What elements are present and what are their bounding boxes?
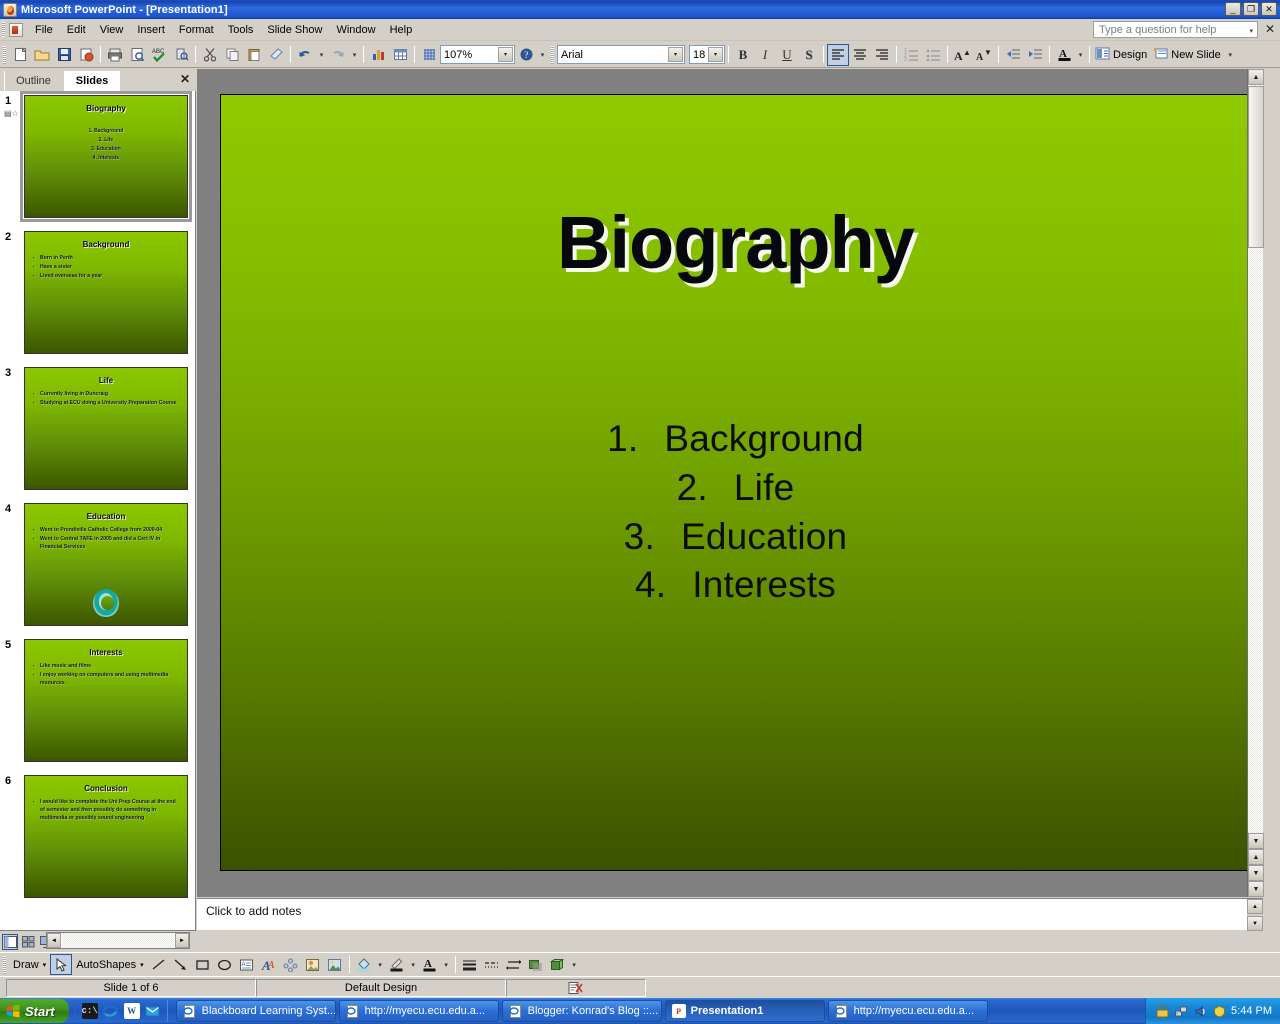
toolbar-separator xyxy=(1049,46,1050,63)
slide-counter: Slide 1 of 6 xyxy=(6,979,256,997)
slide-thumbnail-bullet: I enjoy working on computers and using m… xyxy=(33,672,179,688)
start-button[interactable]: Start xyxy=(0,999,69,1023)
decrease-font-size-icon[interactable]: A▼ xyxy=(973,44,995,66)
slide-list-item: 1.Background xyxy=(221,415,1250,464)
dash-style-icon[interactable] xyxy=(481,954,503,975)
notes-pane[interactable]: Click to add notes ▲ ▼ xyxy=(197,898,1263,930)
taskbar-button-label: Blackboard Learning Syst... xyxy=(202,1005,336,1017)
slide-thumbnail-bullet: Went to Central TAFE in 2005 and did a C… xyxy=(33,536,179,552)
taskbar-button[interactable]: PPresentation1 xyxy=(665,1000,825,1022)
ie-page-icon xyxy=(346,1004,360,1018)
bold-button[interactable]: B xyxy=(732,44,754,66)
slide-thumbnail[interactable]: LifeCurrently living in DuncraigStudying… xyxy=(24,367,188,490)
slide-list-item-text: Interests xyxy=(692,564,836,605)
drawing-toolbar-overflow-icon[interactable]: ▾ xyxy=(569,954,580,976)
outlook-express-icon[interactable] xyxy=(145,1003,161,1019)
slide-thumbnail[interactable]: ConclusionI would like to complete the U… xyxy=(24,775,188,898)
toolbar-separator xyxy=(823,46,824,63)
font-color-drawing-icon[interactable]: A xyxy=(419,954,441,975)
slide-list-item-number: 1. xyxy=(607,418,638,459)
toolbar-grip-formatting[interactable] xyxy=(551,46,554,64)
select-objects-icon[interactable] xyxy=(50,954,72,975)
slide-thumbnail-bullet: Went to Prendiville Catholic College fro… xyxy=(33,527,179,535)
font-color-dropdown-icon[interactable]: ▾ xyxy=(1075,44,1086,66)
status-spacer xyxy=(646,979,1280,997)
open-icon[interactable] xyxy=(31,44,53,66)
chevron-down-icon: ▾ xyxy=(43,961,47,969)
slide-editing-workspace[interactable]: Biography 1.Background2.Life3.Education4… xyxy=(197,69,1263,897)
align-right-icon[interactable] xyxy=(871,44,893,66)
menu-tools[interactable]: Tools xyxy=(221,22,261,38)
restore-button[interactable]: ❐ xyxy=(1243,2,1259,16)
slide-thumbnail-item[interactable]: 1▤☆Biography1. Background2. Life3. Educa… xyxy=(0,91,196,227)
font-size-value: 18 xyxy=(693,49,705,61)
slide-thumbnail-item[interactable]: 5InterestsLike music and filmsI enjoy wo… xyxy=(0,635,196,771)
slide-thumbnail-item[interactable]: 3LifeCurrently living in DuncraigStudyin… xyxy=(0,363,196,499)
slide-body-list[interactable]: 1.Background2.Life3.Education4.Interests xyxy=(221,415,1250,610)
bulleted-list-icon[interactable] xyxy=(922,44,944,66)
shield-icon[interactable] xyxy=(1212,1004,1226,1018)
font-size-dropdown-icon[interactable]: ▾ xyxy=(708,47,723,62)
slide-thumbnail-number: 1 xyxy=(5,95,11,107)
hscroll-track[interactable] xyxy=(62,933,174,948)
window-title: Microsoft PowerPoint - [Presentation1] xyxy=(21,4,228,16)
design-icon xyxy=(1095,47,1110,63)
close-button[interactable]: ✕ xyxy=(1261,2,1277,16)
slide-thumbnail-number: 3 xyxy=(5,367,11,379)
slide-thumbnail-title: Background xyxy=(25,240,187,249)
insert-table-icon[interactable] xyxy=(389,44,411,66)
chevron-down-icon: ▾ xyxy=(140,961,144,969)
toolbar-overflow-standard-icon[interactable]: ▾ xyxy=(537,44,548,66)
decrease-indent-icon[interactable] xyxy=(1002,44,1024,66)
svg-text:▼: ▼ xyxy=(984,48,992,57)
menu-bar: File Edit View Insert Format Tools Slide… xyxy=(0,19,1280,41)
help-icon[interactable]: ? xyxy=(515,44,537,66)
menu-format[interactable]: Format xyxy=(172,22,221,38)
rectangle-icon[interactable] xyxy=(192,954,214,975)
toolbar-separator xyxy=(947,46,948,63)
menu-view[interactable]: View xyxy=(93,22,131,38)
line-style-icon[interactable] xyxy=(459,954,481,975)
security-icon[interactable] xyxy=(1155,1004,1169,1018)
taskbar-button-label: Blogger: Konrad's Blog ::... xyxy=(528,1005,659,1017)
menu-file[interactable]: File xyxy=(28,22,60,38)
slide-list-item-text: Background xyxy=(664,418,863,459)
svg-text:A: A xyxy=(267,960,275,971)
slide-thumbnail-number: 5 xyxy=(5,639,11,651)
close-pane-icon[interactable]: ✕ xyxy=(180,72,190,86)
toolbar-overflow-formatting-icon[interactable]: ▾ xyxy=(1225,44,1236,66)
slide-thumbnail-title: Biography xyxy=(25,104,187,113)
slide-thumbnail-body: Currently living in DuncraigStudying at … xyxy=(33,391,179,408)
draw-label: Draw xyxy=(13,959,39,971)
save-icon[interactable] xyxy=(53,44,75,66)
arrow-icon[interactable] xyxy=(170,954,192,975)
fill-color-dropdown-icon[interactable]: ▾ xyxy=(375,954,386,976)
slide-thumbnail-bullet: Currently living in Duncraig xyxy=(33,391,179,399)
slide-thumbnail[interactable]: BackgroundBorn in PerthHave a sisterLive… xyxy=(24,231,188,354)
fill-color-icon[interactable] xyxy=(353,954,375,975)
windows-taskbar: Start c:\ W Blackboard Learning Syst...h… xyxy=(0,998,1280,1024)
svg-text:▲: ▲ xyxy=(963,48,970,57)
paste-icon[interactable] xyxy=(243,44,265,66)
slide-thumbnail-title: Interests xyxy=(25,648,187,657)
slide-thumbnail-body: Born in PerthHave a sisterLived overseas… xyxy=(33,255,179,280)
oval-icon[interactable] xyxy=(214,954,236,975)
menu-window[interactable]: Window xyxy=(329,22,382,38)
design-label: Design xyxy=(1113,49,1147,61)
toolbar-separator xyxy=(896,46,897,63)
next-slide-icon[interactable]: ▼ xyxy=(1248,865,1264,881)
font-color-icon[interactable]: A xyxy=(1053,44,1075,66)
font-color-drawing-dropdown-icon[interactable]: ▾ xyxy=(441,954,452,976)
line-icon[interactable] xyxy=(148,954,170,975)
tab-outline[interactable]: Outline xyxy=(4,71,62,91)
network-icon[interactable] xyxy=(1174,1004,1188,1018)
cut-icon[interactable] xyxy=(199,44,221,66)
toolbar-separator xyxy=(998,46,999,63)
slide-thumbnail-item[interactable]: 4EducationWent to Prendiville Catholic C… xyxy=(0,499,196,635)
draw-menu-button[interactable]: Draw ▾ xyxy=(9,959,50,971)
slide-list-item-number: 4. xyxy=(635,564,666,605)
menu-help[interactable]: Help xyxy=(383,22,420,38)
window-title-bar: Microsoft PowerPoint - [Presentation1] _… xyxy=(0,0,1280,19)
quick-launch-bar: c:\ W xyxy=(75,1000,168,1022)
slide-thumbnail-title: Education xyxy=(25,512,187,521)
windows-flag-icon xyxy=(6,1004,20,1018)
toolbar-separator xyxy=(349,956,350,973)
slide-thumbnail[interactable]: InterestsLike music and filmsI enjoy wor… xyxy=(24,639,188,762)
scroll-end-icon[interactable]: ▼ xyxy=(1248,881,1264,897)
slide-thumbnail-bullet: Studying at ECU doing a University Prepa… xyxy=(33,400,179,408)
print-icon[interactable] xyxy=(104,44,126,66)
ie-page-icon xyxy=(509,1004,523,1018)
slide-thumbnail-title: Conclusion xyxy=(25,784,187,793)
taskbar-buttons: Blackboard Learning Syst...http://myecu.… xyxy=(176,1000,988,1022)
toolbar-separator xyxy=(195,46,196,63)
menu-grip[interactable] xyxy=(2,22,5,37)
slide-thumbnail-item[interactable]: 2BackgroundBorn in PerthHave a sisterLiv… xyxy=(0,227,196,363)
wordart-icon[interactable]: AA xyxy=(258,954,280,975)
svg-text:A: A xyxy=(424,958,432,970)
toolbar-separator xyxy=(1089,46,1090,63)
slide-thumbnail-body: Went to Prendiville Catholic College fro… xyxy=(33,527,179,551)
zoom-combo[interactable]: 107% ▾ xyxy=(440,45,515,64)
thumbnail-pane-hscrollbar[interactable]: ◄ ► xyxy=(46,932,190,949)
line-color-icon[interactable] xyxy=(386,954,408,975)
slide-thumbnail-number: 2 xyxy=(5,231,11,243)
tab-slides[interactable]: Slides xyxy=(64,71,120,91)
command-prompt-icon[interactable]: c:\ xyxy=(82,1003,98,1019)
font-name-combo[interactable]: Arial ▾ xyxy=(557,45,685,64)
zoom-value: 107% xyxy=(444,49,472,61)
undo-icon[interactable] xyxy=(294,44,316,66)
standard-toolbar: ABC ▾ ▾ xyxy=(0,42,1280,68)
slide-thumbnail-bullet: I would like to complete the Uni Prep Co… xyxy=(33,799,179,822)
slide-thumbnail-logo-image xyxy=(93,589,119,617)
line-color-dropdown-icon[interactable]: ▾ xyxy=(408,954,419,976)
slide-thumbnail-list-item: 4. Interests xyxy=(25,154,187,163)
help-placeholder: Type a question for help xyxy=(1099,24,1216,36)
slide-thumbnail-item[interactable]: 6ConclusionI would like to complete the … xyxy=(0,771,196,907)
svg-text:A: A xyxy=(954,49,963,62)
help-question-box[interactable]: Type a question for help ▾ xyxy=(1093,21,1258,38)
vscroll-thumb[interactable] xyxy=(1248,86,1264,248)
print-preview-icon[interactable] xyxy=(126,44,148,66)
notes-scrollbar[interactable]: ▲ ▼ xyxy=(1247,899,1263,931)
scroll-right-icon[interactable]: ► xyxy=(175,933,189,948)
document-icon xyxy=(9,23,23,37)
slide-animation-icon[interactable]: ▤☆ xyxy=(4,109,19,118)
toolbar-separator xyxy=(290,46,291,63)
drawing-toolbar: Draw ▾ AutoShapes ▾ A AA xyxy=(0,952,1280,976)
left-pane-tabs: Outline Slides ✕ xyxy=(0,69,196,92)
numbered-list-icon[interactable]: 123 xyxy=(900,44,922,66)
toolbar-separator xyxy=(100,46,101,63)
taskbar-button-label: Presentation1 xyxy=(691,1005,764,1017)
slide-thumbnail-list-item: 3. Education xyxy=(25,145,187,154)
notes-placeholder: Click to add notes xyxy=(206,904,301,918)
powerpoint-icon: P xyxy=(672,1004,686,1018)
text-box-icon[interactable]: A xyxy=(236,954,258,975)
notes-scroll-up-icon[interactable]: ▲ xyxy=(1247,899,1263,914)
slide-thumbnail-bullet: Lived overseas for a year xyxy=(33,273,179,281)
3d-style-icon[interactable] xyxy=(547,954,569,975)
font-name-value: Arial xyxy=(561,49,583,61)
toolbar-separator xyxy=(414,46,415,63)
new-icon[interactable] xyxy=(9,44,31,66)
new-slide-icon xyxy=(1153,47,1168,63)
previous-slide-icon[interactable]: ▲ xyxy=(1248,849,1264,865)
clip-art-icon[interactable] xyxy=(302,954,324,975)
close-document-icon[interactable]: ✕ xyxy=(1265,22,1275,36)
underline-button[interactable]: U xyxy=(776,44,798,66)
insert-chart-icon[interactable] xyxy=(367,44,389,66)
spelling-icon[interactable]: ABC xyxy=(148,44,170,66)
system-tray: 5:44 PM xyxy=(1145,998,1280,1024)
taskbar-button-label: http://myecu.ecu.edu.a... xyxy=(365,1005,485,1017)
spellcheck-status-icon[interactable] xyxy=(506,979,646,997)
scroll-up-icon[interactable]: ▲ xyxy=(1248,69,1264,85)
taskbar-button[interactable]: Blackboard Learning Syst... xyxy=(176,1000,336,1022)
normal-view-icon[interactable] xyxy=(2,934,18,950)
slide-canvas[interactable]: Biography 1.Background2.Life3.Education4… xyxy=(220,94,1251,871)
align-left-icon[interactable] xyxy=(827,44,849,66)
research-icon[interactable] xyxy=(170,44,192,66)
slide-thumbnail[interactable]: EducationWent to Prendiville Catholic Co… xyxy=(24,503,188,626)
svg-text:A: A xyxy=(242,962,246,968)
workspace-vscrollbar[interactable]: ▲ ▼ ▲ ▼ ▼ xyxy=(1247,69,1263,897)
show-grid-icon[interactable] xyxy=(418,44,440,66)
ie-page-icon xyxy=(183,1004,197,1018)
toolbar-grip-standard[interactable] xyxy=(3,46,6,64)
zoom-dropdown-icon[interactable]: ▾ xyxy=(498,47,513,62)
email-icon[interactable] xyxy=(75,44,97,66)
slide-thumbnail-list-item: 1. Background xyxy=(25,127,187,136)
minimize-button[interactable]: _ xyxy=(1225,2,1241,16)
increase-font-size-icon[interactable]: A▲ xyxy=(951,44,973,66)
menu-slide-show[interactable]: Slide Show xyxy=(260,22,329,38)
align-center-icon[interactable] xyxy=(849,44,871,66)
ie-page-icon xyxy=(835,1004,849,1018)
undo-dropdown-icon[interactable]: ▾ xyxy=(316,44,327,66)
slide-thumbnail-title: Life xyxy=(25,376,187,385)
svg-text:A: A xyxy=(976,52,984,62)
scroll-down-icon[interactable]: ▼ xyxy=(1248,833,1264,849)
redo-dropdown-icon[interactable]: ▾ xyxy=(349,44,360,66)
slide-thumbnail-list-item: 2. Life xyxy=(25,136,187,145)
start-label: Start xyxy=(25,1004,55,1019)
toolbar-separator xyxy=(455,956,456,973)
arrow-style-icon[interactable] xyxy=(503,954,525,975)
copy-icon[interactable] xyxy=(221,44,243,66)
format-painter-icon[interactable] xyxy=(265,44,287,66)
taskbar-button[interactable]: http://myecu.ecu.edu.a... xyxy=(339,1000,499,1022)
slide-list-item-number: 3. xyxy=(624,516,655,557)
text-shadow-button[interactable]: S xyxy=(798,44,820,66)
design-button[interactable]: Design xyxy=(1093,47,1151,63)
internet-explorer-icon[interactable] xyxy=(103,1003,119,1019)
clock[interactable]: 5:44 PM xyxy=(1231,1005,1272,1017)
word-icon[interactable]: W xyxy=(124,1003,140,1019)
taskbar-button[interactable]: http://myecu.ecu.edu.a... xyxy=(828,1000,988,1022)
diagram-icon[interactable] xyxy=(280,954,302,975)
slide-list-item-text: Education xyxy=(681,516,847,557)
increase-indent-icon[interactable] xyxy=(1024,44,1046,66)
font-size-combo[interactable]: 18 ▾ xyxy=(689,45,725,64)
toolbar-separator xyxy=(728,46,729,63)
status-bar: Slide 1 of 6 Default Design xyxy=(0,976,1280,998)
autoshapes-menu-button[interactable]: AutoShapes ▾ xyxy=(72,959,147,971)
taskbar-button-label: http://myecu.ecu.edu.a... xyxy=(854,1005,974,1017)
toolbar-separator xyxy=(363,46,364,63)
volume-icon[interactable] xyxy=(1193,1004,1207,1018)
window-controls: _ ❐ ✕ xyxy=(1225,2,1277,16)
new-slide-button[interactable]: New Slide xyxy=(1151,47,1225,63)
slide-thumbnail-bullet: Born in Perth xyxy=(33,255,179,263)
taskbar-button[interactable]: Blogger: Konrad's Blog ::... xyxy=(502,1000,662,1022)
chevron-down-icon[interactable]: ▾ xyxy=(1249,27,1253,35)
slide-thumbnail-number: 6 xyxy=(5,775,11,787)
slide-thumbnail-body: Like music and filmsI enjoy working on c… xyxy=(33,663,179,687)
autoshapes-label: AutoShapes xyxy=(76,959,136,971)
slide-thumbnail-number: 4 xyxy=(5,503,11,515)
new-slide-label: New Slide xyxy=(1171,49,1221,61)
insert-picture-icon[interactable] xyxy=(324,954,346,975)
slide-list-item-number: 2. xyxy=(677,467,708,508)
shadow-style-icon[interactable] xyxy=(525,954,547,975)
slide-thumbnail-bullet: Have a sister xyxy=(33,264,179,272)
redo-icon[interactable] xyxy=(327,44,349,66)
slide-thumbnail-body: I would like to complete the Uni Prep Co… xyxy=(33,799,179,822)
slide-list-item: 2.Life xyxy=(221,464,1250,513)
slide-thumbnail-body: 1. Background2. Life3. Education4. Inter… xyxy=(25,127,187,163)
design-name: Default Design xyxy=(256,979,506,997)
drawing-toolbar-grip[interactable] xyxy=(3,956,6,974)
notes-scroll-down-icon[interactable]: ▼ xyxy=(1247,916,1263,931)
slide-list-item-text: Life xyxy=(734,467,794,508)
scroll-left-icon[interactable]: ◄ xyxy=(47,933,61,948)
slide-thumbnails-pane[interactable]: 1▤☆Biography1. Background2. Life3. Educa… xyxy=(0,91,196,930)
font-name-dropdown-icon[interactable]: ▾ xyxy=(668,47,683,62)
menu-insert[interactable]: Insert xyxy=(130,22,172,38)
svg-text:?: ? xyxy=(524,50,528,60)
slide-title-text[interactable]: Biography xyxy=(221,200,1250,285)
menu-edit[interactable]: Edit xyxy=(60,22,93,38)
slide-list-item: 4.Interests xyxy=(221,561,1250,610)
slide-list-item: 3.Education xyxy=(221,513,1250,562)
powerpoint-app-icon xyxy=(3,3,17,17)
slide-thumbnail-bullet: Like music and films xyxy=(33,663,179,671)
svg-text:3: 3 xyxy=(904,57,907,61)
slide-thumbnail[interactable]: Biography1. Background2. Life3. Educatio… xyxy=(24,95,188,218)
slide-sorter-view-icon[interactable] xyxy=(20,934,36,950)
italic-button[interactable]: I xyxy=(754,44,776,66)
